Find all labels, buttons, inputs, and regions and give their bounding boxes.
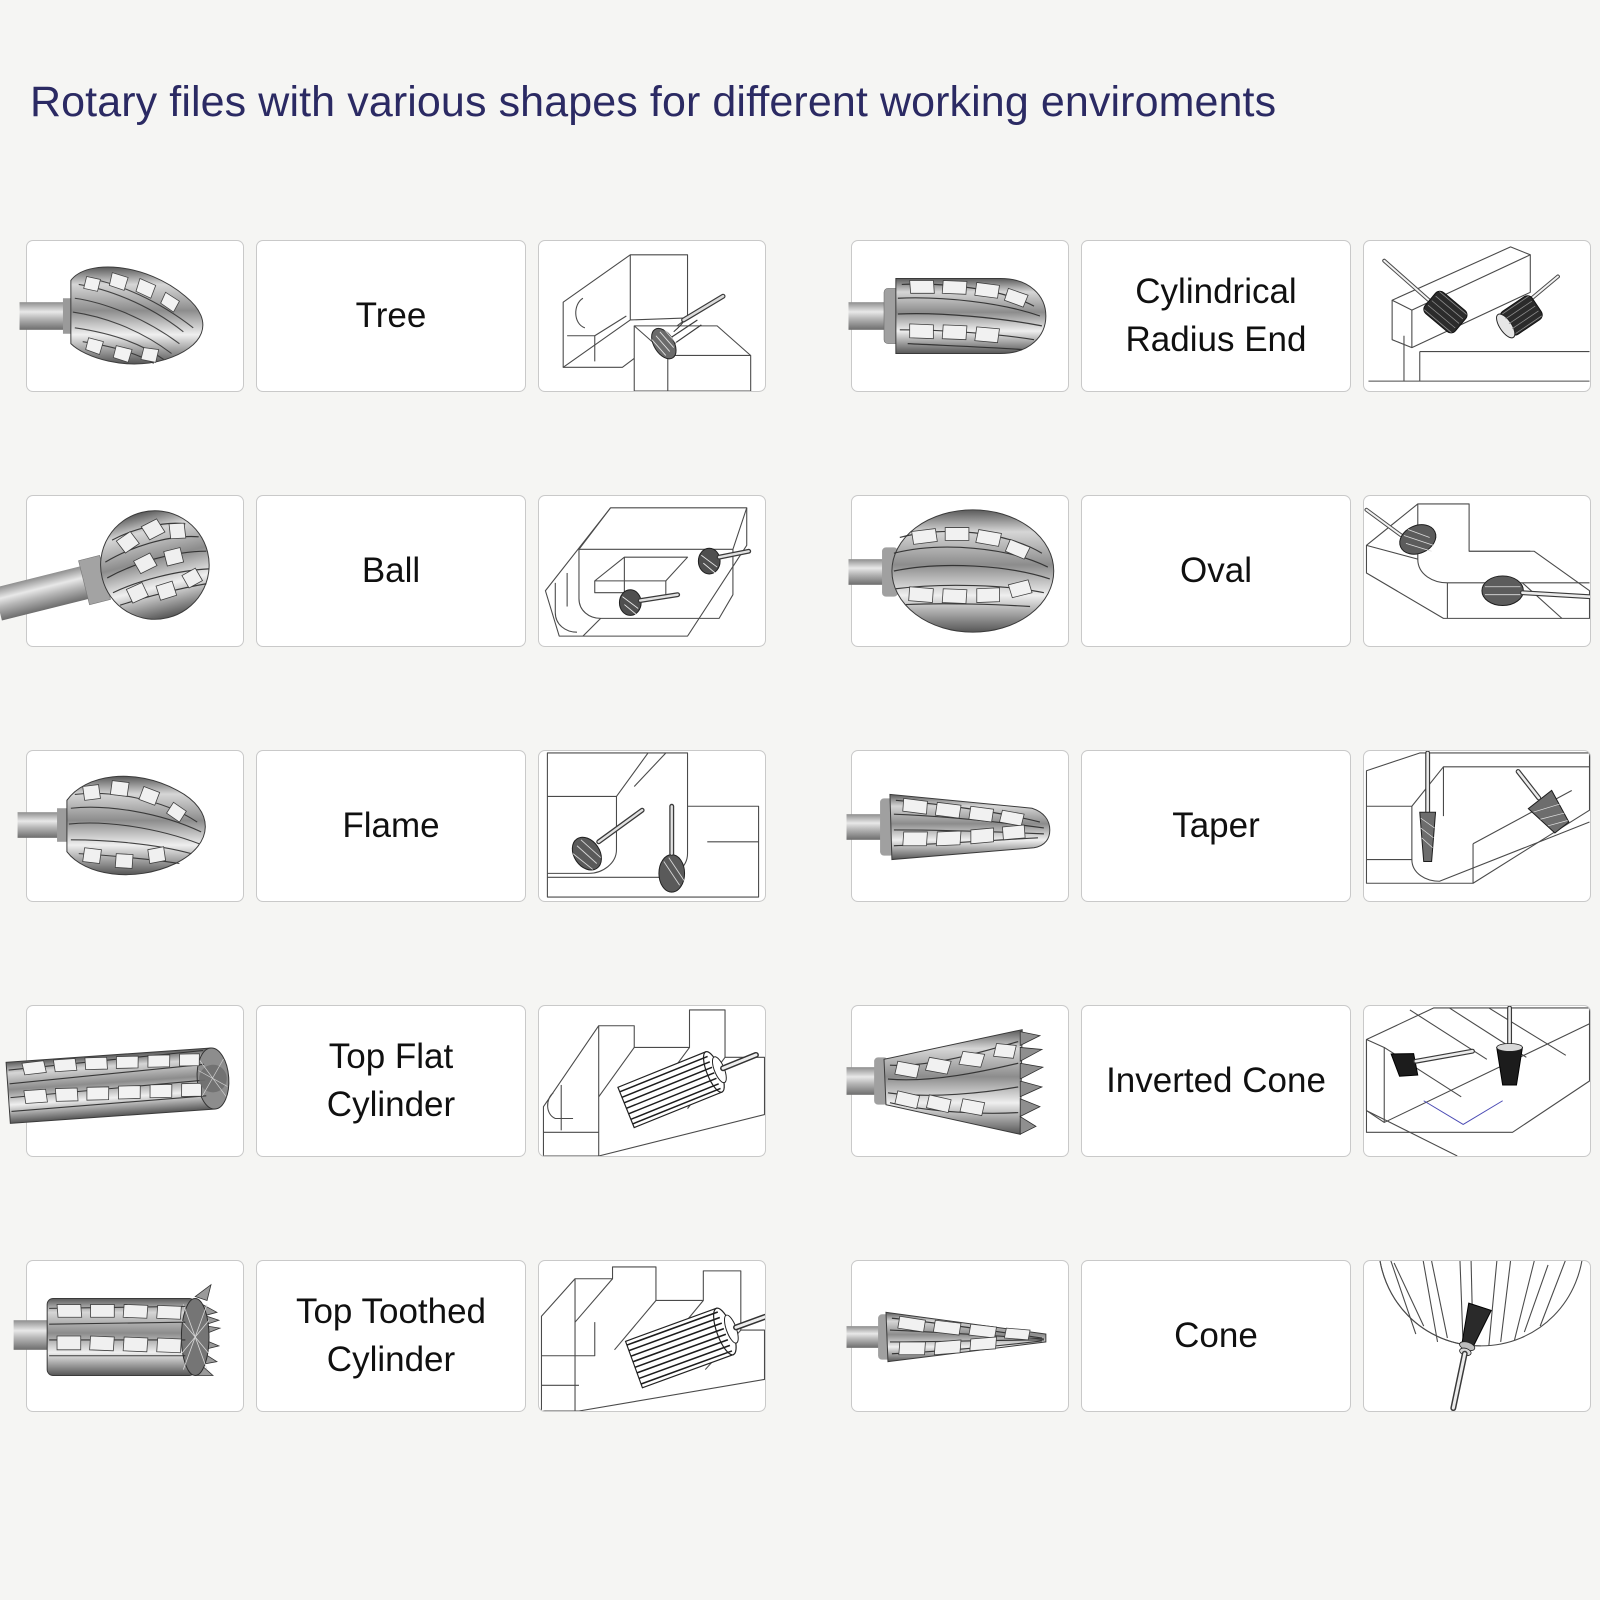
shape-row-top-toothed-cylinder: Top Toothed Cylinder [26,1260,766,1412]
oval-burr-photo [852,496,1068,646]
top-flat-cylinder-burr-application-illustration [539,1006,765,1156]
shape-row-taper: Taper [851,750,1591,902]
inverted-cone-illustration-card [1363,1005,1591,1157]
cylindrical-radius-end-label-card: Cylindrical Radius End [1081,240,1351,392]
page-title: Rotary files with various shapes for dif… [30,74,1530,130]
ball-burr-photo-card [26,495,244,647]
flame-label-card: Flame [256,750,526,902]
inverted-cone-burr-application-illustration [1364,1006,1590,1156]
infographic-page: Rotary files with various shapes for dif… [0,0,1600,1600]
shape-row-ball: Ball [26,495,766,647]
top-toothed-cylinder-illustration-card [538,1260,766,1412]
shape-label: Taper [1164,802,1268,850]
oval-illustration-card [1363,495,1591,647]
shape-label: Top Flat Cylinder [257,1033,525,1129]
taper-label-card: Taper [1081,750,1351,902]
inverted-cone-burr-photo-card [851,1005,1069,1157]
shape-label: Tree [348,292,435,340]
flame-burr-application-illustration [539,751,765,901]
taper-burr-application-illustration [1364,751,1590,901]
oval-label-card: Oval [1081,495,1351,647]
top-flat-cylinder-illustration-card [538,1005,766,1157]
flame-burr-photo [27,751,243,901]
top-toothed-cylinder-burr-photo [27,1261,243,1411]
shape-row-top-flat-cylinder: Top Flat Cylinder [26,1005,766,1157]
taper-burr-photo [852,751,1068,901]
shape-label: Cone [1166,1312,1266,1360]
top-flat-cylinder-burr-photo-card [26,1005,244,1157]
flame-burr-photo-card [26,750,244,902]
shape-row-cone: Cone [851,1260,1591,1412]
top-toothed-cylinder-burr-application-illustration [539,1261,765,1411]
tree-burr-application-illustration [539,241,765,391]
cone-burr-photo [852,1261,1068,1411]
shape-row-inverted-cone: Inverted Cone [851,1005,1591,1157]
shape-row-flame: Flame [26,750,766,902]
tree-burr-photo-card [26,240,244,392]
cone-burr-photo-card [851,1260,1069,1412]
tree-burr-photo [27,241,243,391]
cylindrical-radius-end-burr-photo [852,241,1068,391]
tree-illustration-card [538,240,766,392]
top-flat-cylinder-burr-photo [27,1006,243,1156]
shape-label: Ball [354,547,428,595]
shape-row-cylindrical-radius-end: Cylindrical Radius End [851,240,1591,392]
cylindrical-radius-end-burr-application-illustration [1364,241,1590,391]
ball-burr-photo [27,496,243,646]
oval-burr-application-illustration [1364,496,1590,646]
cone-burr-application-illustration [1364,1261,1590,1411]
taper-illustration-card [1363,750,1591,902]
shape-label: Flame [334,802,447,850]
shape-label: Cylindrical Radius End [1082,268,1350,364]
cylindrical-radius-end-burr-photo-card [851,240,1069,392]
shape-label: Oval [1172,547,1260,595]
shape-row-oval: Oval [851,495,1591,647]
shape-label: Inverted Cone [1098,1057,1334,1105]
top-flat-cylinder-label-card: Top Flat Cylinder [256,1005,526,1157]
cone-label-card: Cone [1081,1260,1351,1412]
inverted-cone-label-card: Inverted Cone [1081,1005,1351,1157]
ball-burr-application-illustration [539,496,765,646]
cylindrical-radius-end-illustration-card [1363,240,1591,392]
ball-illustration-card [538,495,766,647]
inverted-cone-burr-photo [852,1006,1068,1156]
top-toothed-cylinder-label-card: Top Toothed Cylinder [256,1260,526,1412]
flame-illustration-card [538,750,766,902]
shape-label: Top Toothed Cylinder [257,1288,525,1384]
cone-illustration-card [1363,1260,1591,1412]
oval-burr-photo-card [851,495,1069,647]
top-toothed-cylinder-burr-photo-card [26,1260,244,1412]
taper-burr-photo-card [851,750,1069,902]
ball-label-card: Ball [256,495,526,647]
shape-row-tree: Tree [26,240,766,392]
tree-label-card: Tree [256,240,526,392]
